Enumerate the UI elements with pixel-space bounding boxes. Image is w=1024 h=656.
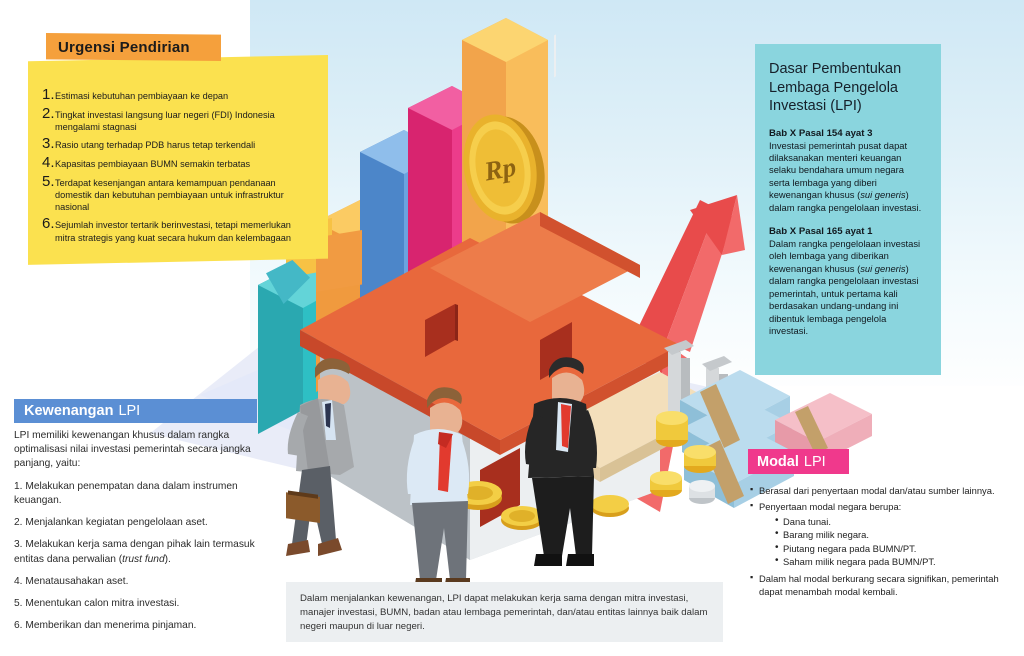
modal-list: Berasal dari penyertaan modal dan/atau s… (748, 484, 1024, 598)
list-item: 5. Menentukan calon mitra investasi. (14, 597, 279, 611)
list-item-italic: trust fund (122, 554, 164, 565)
bottom-caption-box: Dalam menjalankan kewenangan, LPI dapat … (286, 582, 723, 642)
list-number: 2. (42, 106, 55, 122)
list-item: 3. Melakukan kerja sama dengan pihak lai… (14, 538, 279, 566)
list-text: Rasio utang terhadap PDB harus tetap ter… (55, 136, 255, 151)
dasar-article-body: Dalam rangka pengelolaan investasi oleh … (769, 238, 927, 337)
dasar-article-body: Investasi pemerintah pusat dapat dilaksa… (769, 140, 927, 214)
modal-header-banner: Modal LPI (748, 449, 849, 474)
list-text: Kapasitas pembiayaan BUMN semakin terbat… (55, 155, 250, 170)
dasar-body-italic: sui generis (860, 263, 905, 274)
sub-list-item: Barang milik negara. (775, 528, 1024, 541)
list-item-label: Penyertaan modal negara berupa: (759, 501, 901, 512)
list-item: 2. Menjalankan kegiatan pengelolaan aset… (14, 516, 279, 530)
modal-title-bold: Modal (757, 454, 799, 470)
dasar-block-165: Bab X Pasal 165 ayat 1 Dalam rangka peng… (769, 226, 927, 337)
dasar-body-italic: sui generis (860, 189, 905, 200)
list-number: 5. (42, 174, 55, 190)
bottom-caption-text: Dalam menjalankan kewenangan, LPI dapat … (300, 592, 709, 634)
urgensi-list: 1. Estimasi kebutuhan pembiayaan ke depa… (42, 87, 312, 244)
kewenangan-intro-text: LPI memiliki kewenangan khusus dalam ran… (14, 429, 279, 471)
list-number: 1. (42, 87, 55, 103)
dasar-block-154: Bab X Pasal 154 ayat 3 Investasi pemerin… (769, 128, 927, 214)
dasar-pembentukan-panel: Dasar Pembentukan Lembaga Pengelola Inve… (755, 44, 941, 375)
list-number: 4. (42, 155, 55, 171)
list-item: 4. Kapasitas pembiayaan BUMN semakin ter… (42, 155, 312, 171)
list-item: 5. Terdapat kesenjangan antara kemampuan… (42, 174, 312, 214)
list-number: 6. (42, 216, 55, 232)
list-text: Sejumlah investor tertarik berinvestasi,… (55, 216, 312, 243)
dasar-article-heading: Bab X Pasal 165 ayat 1 (769, 226, 927, 237)
sub-list-item: Saham milik negara pada BUMN/PT. (775, 555, 1024, 568)
urgensi-card: 1. Estimasi kebutuhan pembiayaan ke depa… (28, 55, 328, 265)
urgensi-header-title: Urgensi Pendirian (58, 39, 190, 56)
list-item: Dalam hal modal berkurang secara signifi… (750, 572, 1024, 598)
list-item: 6. Sejumlah investor tertarik berinvesta… (42, 216, 312, 243)
dasar-article-heading: Bab X Pasal 154 ayat 3 (769, 128, 927, 139)
kewenangan-lpi-panel: Kewenangan LPI LPI memiliki kewenangan k… (14, 399, 279, 641)
kewenangan-list: 1. Melakukan penempatan dana dalam instr… (14, 480, 279, 633)
list-item: 4. Menatausahakan aset. (14, 575, 279, 589)
list-item-suffix: ). (165, 554, 171, 565)
list-item: Penyertaan modal negara berupa: Dana tun… (750, 500, 1024, 568)
kewenangan-title-bold: Kewenangan (24, 403, 113, 419)
kewenangan-header-banner: Kewenangan LPI (14, 399, 257, 423)
list-text: Tingkat investasi langsung luar negeri (… (55, 106, 312, 133)
sub-list-item: Dana tunai. (775, 515, 1024, 528)
list-text: Estimasi kebutuhan pembiayaan ke depan (55, 87, 228, 102)
modal-sub-list: Dana tunai. Barang milik negara. Piutang… (759, 515, 1024, 568)
urgensi-header-banner: Urgensi Pendirian (46, 33, 221, 61)
list-item: 1. Estimasi kebutuhan pembiayaan ke depa… (42, 87, 312, 103)
list-item: 3. Rasio utang terhadap PDB harus tetap … (42, 136, 312, 152)
modal-lpi-panel: Modal LPI Berasal dari penyertaan modal … (748, 449, 1024, 601)
list-item: 2. Tingkat investasi langsung luar neger… (42, 106, 312, 133)
modal-title-light: LPI (804, 454, 826, 470)
kewenangan-title-light: LPI (118, 403, 140, 419)
list-item: 1. Melakukan penempatan dana dalam instr… (14, 480, 279, 508)
infographic-canvas: Rp (0, 0, 1024, 656)
sub-list-item: Piutang negara pada BUMN/PT. (775, 542, 1024, 555)
dasar-panel-title: Dasar Pembentukan Lembaga Pengelola Inve… (769, 60, 927, 116)
list-number: 3. (42, 136, 55, 152)
list-text: Terdapat kesenjangan antara kemampuan pe… (55, 174, 312, 214)
list-item: 6. Memberikan dan menerima pinjaman. (14, 619, 279, 633)
list-item: Berasal dari penyertaan modal dan/atau s… (750, 484, 1024, 497)
